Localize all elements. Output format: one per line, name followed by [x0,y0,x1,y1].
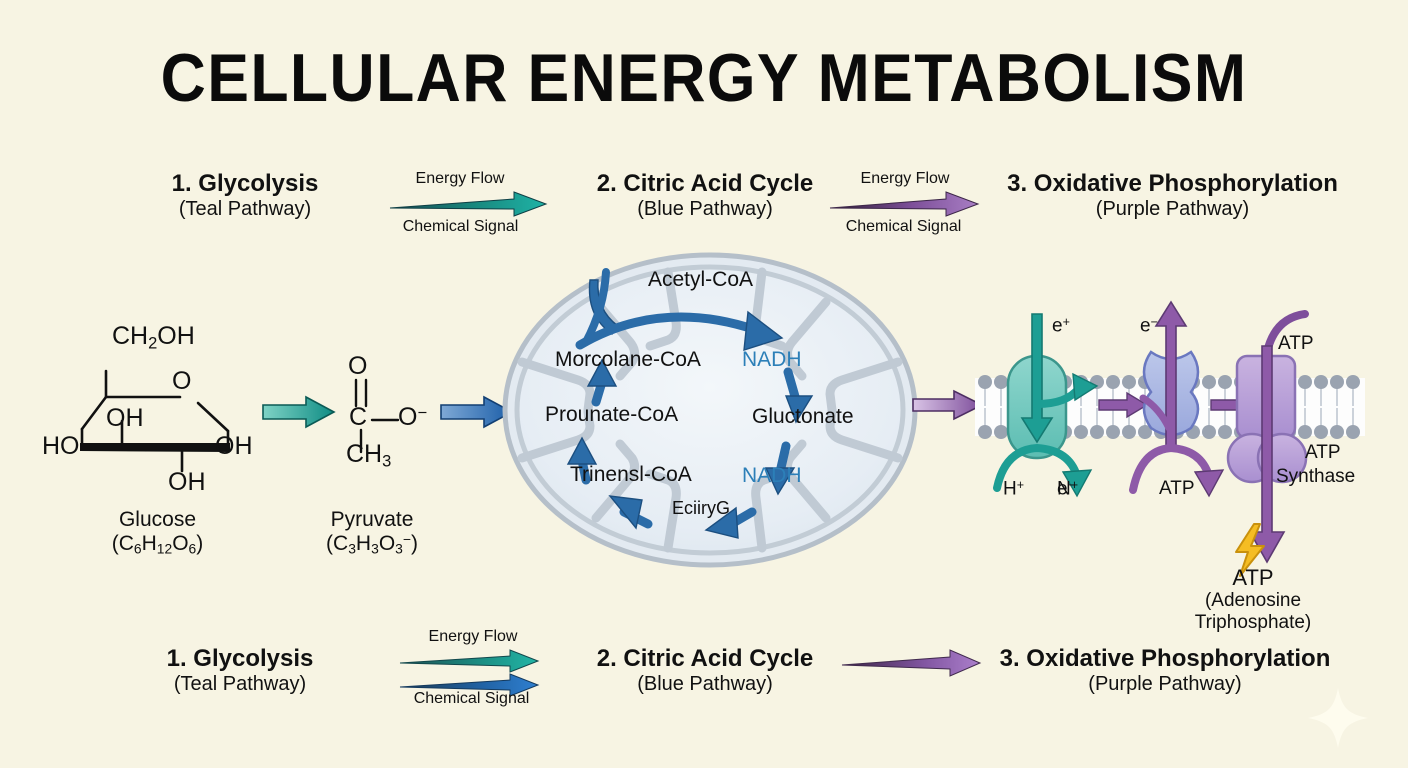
cycle-node-prounate-coa: Prounate-CoA [545,403,678,427]
cycle-node-morcolane-coa: Morcolane-CoA [555,348,701,372]
glucose-ch2oh-label: CH2OH [112,322,195,353]
glucose-ring-oxygen-label: O [172,367,191,396]
atp-product-sub1: (Adenosine [1148,590,1358,612]
glucose-caption: Glucose (C6H12O6) [60,508,255,558]
glucose-ho-left-label: HO [42,432,80,461]
legend-connector-1-label-above: Energy Flow [398,628,548,646]
legend-stage-1-subtitle: (Teal Pathway) [80,673,400,696]
top-connector-2-arrow [828,191,988,219]
glucose-oh-right-label: OH [215,432,253,461]
stage-3-title: 3. Oxidative Phosphorylation [975,170,1370,198]
stage-3-subtitle: (Purple Pathway) [975,198,1370,221]
legend-stage-1-title: 1. Glycolysis [80,645,400,673]
atp-product-caption: ATP (Adenosine Triphosphate) [1148,565,1358,633]
cycle-node-nadh-1: NADH [742,348,802,372]
etc-atp-synthase-top-label: ATP [1278,333,1314,355]
pyruvate-name: Pyruvate [292,508,452,532]
atp-product-label: ATP [1148,565,1358,590]
atp-product-sub2: Triphosphate) [1148,612,1358,634]
legend-stage-3-title: 3. Oxidative Phosphorylation [990,645,1340,673]
pyruvate-oxygen-anion-label: O− [398,403,427,432]
cycle-entry-label: Acetyl-CoA [648,268,753,292]
etc-complex2-electron-up-label: e− [1140,315,1158,337]
stage-header-3: 3. Oxidative Phosphorylation (Purple Pat… [975,170,1370,221]
glucose-to-pyruvate-arrow [262,396,338,430]
glucose-formula: (C6H12O6) [60,532,255,558]
glucose-oh-inner-label: OH [106,404,144,433]
diagram-canvas: CELLULAR ENERGY METABOLISM 1. Glycolysis… [0,0,1408,768]
etc-complex2-electron-in-label: e− [1057,478,1075,500]
cycle-node-eciiryg: EciiryG [672,498,730,519]
pyruvate-formula: (C3H3O3−) [292,532,452,558]
legend-stage-2: 2. Citric Acid Cycle (Blue Pathway) [540,645,870,696]
pyruvate-carbon-label: C [349,403,367,432]
cycle-node-gluctonate: Gluctonate [752,405,854,429]
top-connector-1-label-below: Chemical Signal [383,218,538,236]
etc-complex2-atp-label: ATP [1159,478,1195,500]
glucose-name: Glucose [60,508,255,532]
etc-atp-synthase-name-line1: ATP [1305,442,1341,464]
stage-header-1: 1. Glycolysis (Teal Pathway) [60,170,430,221]
top-connector-2-label-below: Chemical Signal [826,218,981,236]
etc-complex1-input-label: e+ [1052,315,1070,337]
cycle-node-nadh-2: NADH [742,464,802,488]
pyruvate-oxygen-top-label: O [348,352,367,381]
top-connector-2-label-above: Energy Flow [830,170,980,188]
pyruvate-methyl-label: CH3 [346,440,391,471]
page-title: CELLULAR ENERGY METABOLISM [56,44,1351,112]
pyruvate-caption: Pyruvate (C3H3O3−) [292,508,452,558]
glucose-structure [70,355,260,495]
glucose-oh-bottom-label: OH [168,468,206,497]
legend-stage-3: 3. Oxidative Phosphorylation (Purple Pat… [990,645,1340,696]
legend-stage-2-title: 2. Citric Acid Cycle [540,645,870,673]
etc-atp-synthase-name-line2: Synthase [1276,466,1355,488]
legend-stage-2-subtitle: (Blue Pathway) [540,673,870,696]
top-connector-1-label-above: Energy Flow [385,170,535,188]
legend-stage-3-subtitle: (Purple Pathway) [990,673,1340,696]
top-connector-1-arrow [388,191,558,219]
legend-stage-1: 1. Glycolysis (Teal Pathway) [80,645,400,696]
stage-1-subtitle: (Teal Pathway) [60,198,430,221]
stage-1-title: 1. Glycolysis [60,170,430,198]
etc-complex1-hplus-label: H+ [1003,478,1024,500]
legend-connector-1-label-below: Chemical Signal [394,690,549,708]
legend-connector-2-arrow [840,650,990,676]
cycle-node-trinensl-coa: Trinensl-CoA [570,463,692,487]
